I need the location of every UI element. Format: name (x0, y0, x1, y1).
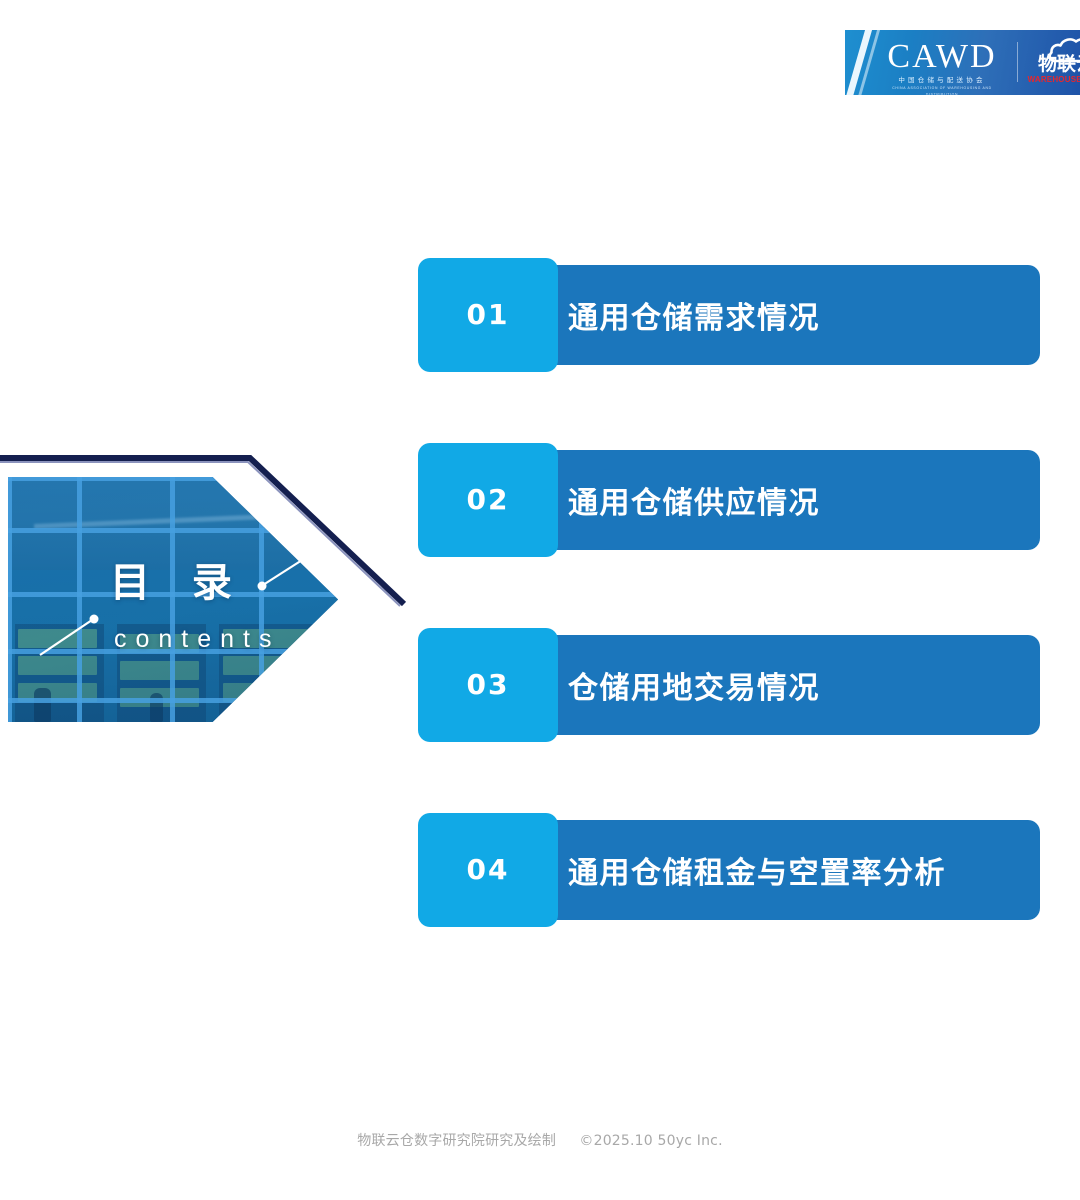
menu-item-label: 仓储用地交易情况 (568, 628, 820, 742)
menu-item-number-tile: 02 (418, 443, 558, 557)
footer-credit: 物联云仓数字研究院研究及绘制 (357, 1133, 556, 1149)
menu-item-label: 通用仓储需求情况 (568, 258, 820, 372)
brand-chinese-name: 物联云仓 (1026, 53, 1080, 75)
cawd-logo: CAWD 中国仓储与配送协会 CHINA ASSOCIATION OF WARE… (877, 39, 1007, 95)
cawd-english-name: CHINA ASSOCIATION OF WAREHOUSING AND DIS… (877, 84, 1007, 95)
menu-item-number-tile: 01 (418, 258, 558, 372)
toc-menu-item-04[interactable]: 通用仓储租金与空置率分析 04 (418, 813, 1040, 927)
menu-item-number: 04 (467, 855, 510, 885)
toc-hero-graphic: 目 录 contents (0, 452, 410, 742)
brand-logo-bar: CAWD 中国仓储与配送协会 CHINA ASSOCIATION OF WARE… (845, 30, 1080, 95)
toc-menu-item-02[interactable]: 通用仓储供应情况 02 (418, 443, 1040, 557)
footer-copyright: ©2025.10 50yc Inc. (579, 1133, 722, 1149)
menu-item-number-tile: 04 (418, 813, 558, 927)
menu-item-number: 03 (467, 670, 510, 700)
toc-menu-item-03[interactable]: 仓储用地交易情况 03 (418, 628, 1040, 742)
menu-item-number-tile: 03 (418, 628, 558, 742)
toc-subtitle: contents (114, 624, 281, 654)
footer: 物联云仓数字研究院研究及绘制 ©2025.10 50yc Inc. (0, 1130, 1080, 1150)
toc-menu-list: 通用仓储需求情况 01 通用仓储供应情况 02 仓储用地交易情况 03 通用仓储… (418, 258, 1040, 938)
menu-item-number: 01 (467, 300, 510, 330)
cawd-wordmark: CAWD (877, 39, 1007, 75)
menu-item-label: 通用仓储供应情况 (568, 443, 820, 557)
toc-title: 目 录 (110, 560, 246, 606)
toc-menu-item-01[interactable]: 通用仓储需求情况 01 (418, 258, 1040, 372)
warehouse-in-cloud-logo: 物联云仓 WAREHOUSE IN CLOUD (1026, 36, 1080, 92)
menu-item-label: 通用仓储租金与空置率分析 (568, 813, 946, 927)
logo-divider (1017, 42, 1018, 82)
menu-item-number: 02 (467, 485, 510, 515)
brand-english-name: WAREHOUSE IN CLOUD (1026, 75, 1080, 85)
